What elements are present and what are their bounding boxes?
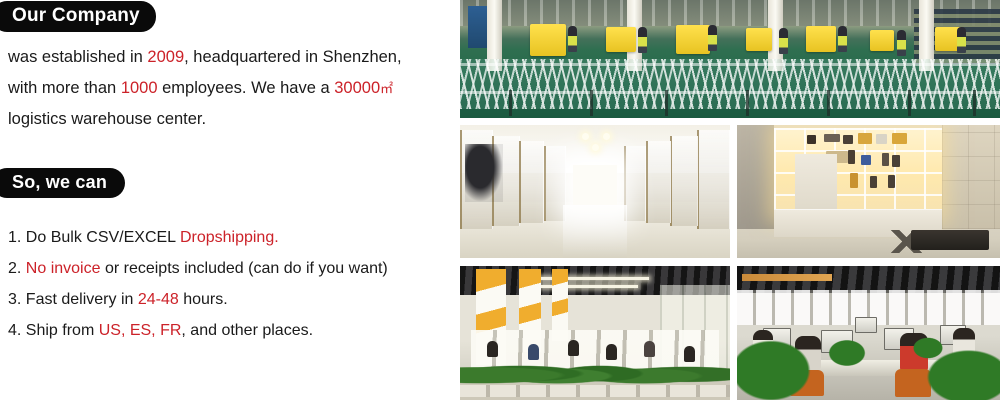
intro-line: with more than 1000 employees. We have a… [8, 73, 456, 104]
our-company-badge: Our Company [0, 1, 156, 32]
body-text: Do Bulk CSV/EXCEL [26, 229, 180, 246]
company-info-banner: Our Company was established in 2009, hea… [0, 0, 1000, 400]
company-intro-paragraph: was established in 2009, headquartered i… [8, 42, 456, 135]
body-text: hours. [179, 291, 228, 308]
corridor-photo [460, 125, 730, 258]
body-text: with more than [8, 79, 121, 97]
list-item: 4. Ship from US, ES, FR, and other place… [8, 315, 460, 346]
list-item-text: Fast delivery in 24-48 hours. [26, 291, 228, 308]
intro-line: logistics warehouse center. [8, 104, 456, 135]
highlight-text: 30000 [334, 79, 380, 97]
body-text: Fast delivery in [26, 291, 138, 308]
highlight-text: Dropshipping. [180, 229, 279, 246]
body-text: , headquartered in Shenzhen, [184, 48, 401, 66]
body-text: logistics warehouse center. [8, 110, 206, 128]
list-item-number: 1. [8, 229, 26, 246]
body-text: or receipts included (can do if you want… [101, 260, 388, 277]
office-overview-photo [460, 266, 730, 400]
highlight-text: 1000 [121, 79, 158, 97]
highlight-text: 2009 [147, 48, 184, 66]
list-item-number: 3. [8, 291, 26, 308]
photo-grid [460, 0, 1000, 400]
body-text: , and other places. [181, 322, 313, 339]
showroom-photo [737, 125, 1000, 258]
body-text: employees. We have a [158, 79, 335, 97]
highlight-text: ㎡ [380, 81, 393, 96]
body-text: was established in [8, 48, 147, 66]
office-staff-photo [737, 266, 1000, 400]
capability-list: 1. Do Bulk CSV/EXCEL Dropshipping. 2. No… [8, 222, 460, 346]
highlight-text: No invoice [26, 260, 101, 277]
highlight-text: 24-48 [138, 291, 179, 308]
list-item-text: Ship from US, ES, FR, and other places. [26, 322, 313, 339]
so-we-can-badge: So, we can [0, 168, 125, 198]
list-item: 2. No invoice or receipts included (can … [8, 253, 460, 284]
intro-line: was established in 2009, headquartered i… [8, 42, 456, 73]
factory-warehouse-photo [460, 0, 1000, 118]
list-item-number: 2. [8, 260, 26, 277]
list-item-text: Do Bulk CSV/EXCEL Dropshipping. [26, 229, 279, 246]
list-item-number: 4. [8, 322, 26, 339]
text-panel: Our Company was established in 2009, hea… [0, 0, 460, 400]
list-item: 1. Do Bulk CSV/EXCEL Dropshipping. [8, 222, 460, 253]
body-text: Ship from [26, 322, 99, 339]
list-item: 3. Fast delivery in 24-48 hours. [8, 284, 460, 315]
list-item-text: No invoice or receipts included (can do … [26, 260, 388, 277]
highlight-text: US, ES, FR [99, 322, 182, 339]
